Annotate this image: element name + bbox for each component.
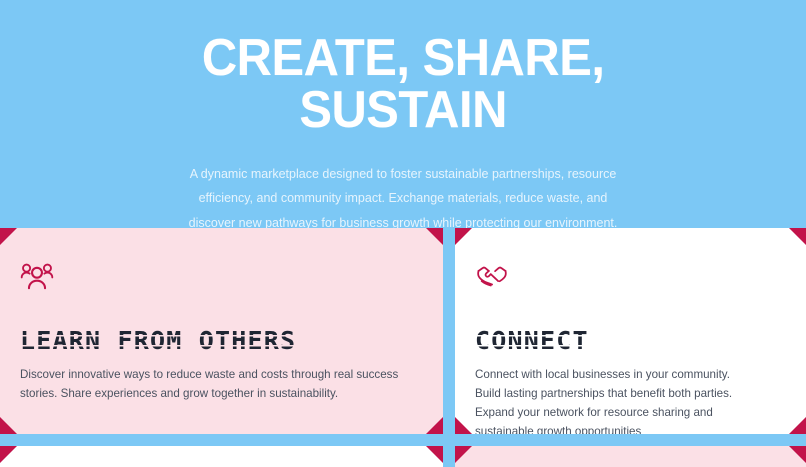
handshake-icon <box>475 262 509 292</box>
corner-notch-bottom-right <box>789 417 806 434</box>
users-group-icon <box>20 262 54 292</box>
feature-card-title: LEARN FROM OTHERS <box>20 328 421 354</box>
corner-notch-top-right <box>426 446 443 463</box>
page-title: CREATE, SHARE, SUSTAIN <box>202 32 605 136</box>
corner-notch-top-left <box>0 446 17 463</box>
landing-page: CREATE, SHARE, SUSTAIN A dynamic marketp… <box>0 0 806 467</box>
feature-card-title: CONNECT <box>475 328 784 354</box>
corner-notch-bottom-right <box>426 417 443 434</box>
feature-card-row2-right[interactable] <box>455 446 806 467</box>
feature-card-title-text: CONNECT <box>475 328 589 354</box>
corner-notch-top-right <box>789 228 806 245</box>
page-title-line-2: SUSTAIN <box>202 84 605 136</box>
feature-card-row2-left[interactable] <box>0 446 443 467</box>
feature-card-title-text: LEARN FROM OTHERS <box>20 328 296 354</box>
hero-subtitle: A dynamic marketplace designed to foster… <box>188 162 618 235</box>
corner-notch-top-left <box>455 446 472 463</box>
feature-card-grid: LEARN FROM OTHERS Discover innovative wa… <box>0 228 806 467</box>
corner-notch-top-right <box>789 446 806 463</box>
corner-notch-top-right <box>426 228 443 245</box>
corner-notch-bottom-left <box>455 417 472 434</box>
corner-notch-bottom-left <box>0 417 17 434</box>
feature-card-connect[interactable]: CONNECT Connect with local businesses in… <box>455 228 806 434</box>
corner-notch-top-left <box>0 228 17 245</box>
page-title-line-1: CREATE, SHARE, <box>202 32 605 84</box>
feature-card-description: Discover innovative ways to reduce waste… <box>20 366 410 404</box>
corner-notch-top-left <box>455 228 472 245</box>
hero-section: CREATE, SHARE, SUSTAIN A dynamic marketp… <box>0 0 806 228</box>
feature-card-learn-from-others[interactable]: LEARN FROM OTHERS Discover innovative wa… <box>0 228 443 434</box>
feature-card-description: Connect with local businesses in your co… <box>475 366 755 434</box>
